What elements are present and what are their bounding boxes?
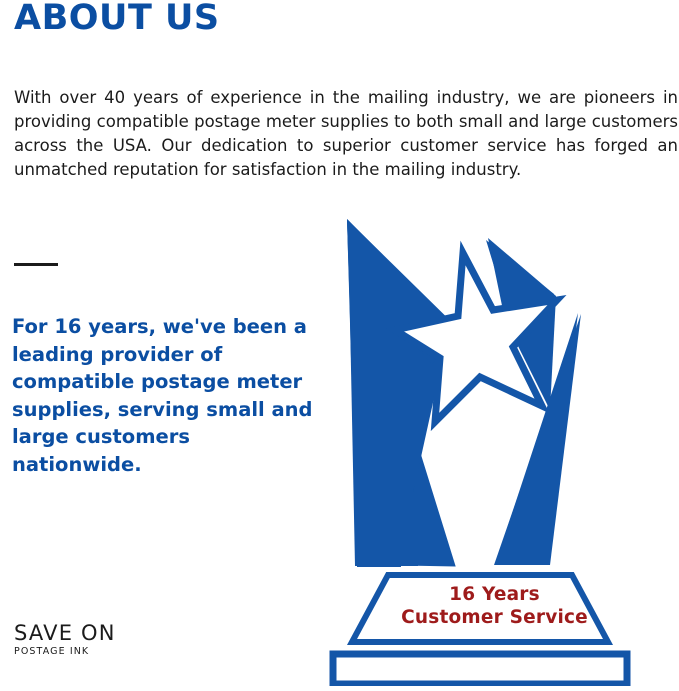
page-title: ABOUT US — [14, 0, 220, 38]
section-divider — [14, 263, 58, 266]
logo-name: SAVE ON — [14, 621, 164, 645]
brand-logo: SAVE ON POSTAGE INK — [14, 621, 164, 657]
about-us-page: ABOUT US With over 40 years of experienc… — [0, 0, 679, 686]
pull-quote: For 16 years, we've been a leading provi… — [12, 313, 322, 478]
trophy-plaque-text: 16 Years Customer Service — [372, 583, 617, 629]
logo-subtitle: POSTAGE INK — [14, 646, 164, 657]
plaque-line-1: 16 Years — [372, 583, 617, 606]
about-body-paragraph: With over 40 years of experience in the … — [14, 86, 678, 182]
plaque-line-2: Customer Service — [372, 606, 617, 629]
